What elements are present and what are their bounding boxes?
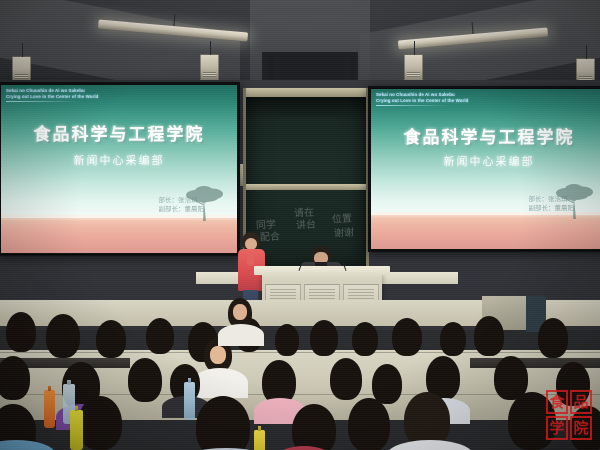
- audience-head: [474, 316, 504, 356]
- audience-head: [392, 318, 422, 356]
- audience-shoulders: [0, 440, 56, 450]
- audience-head: [128, 358, 162, 402]
- ceiling: [0, 0, 600, 88]
- audience-shoulders: [192, 368, 248, 398]
- slide-ground-strip: [371, 215, 600, 249]
- slide-tree-icon: [182, 181, 228, 221]
- presenter-arm: [247, 252, 254, 266]
- watermark-char: 院: [572, 421, 590, 436]
- slide-title: 食品科学与工程学院: [371, 123, 600, 148]
- speaker-rod: [22, 43, 23, 57]
- audience-shoulders: [218, 324, 264, 346]
- audience-head: [330, 358, 362, 400]
- microphone-head-right: [345, 261, 348, 264]
- blackboard-chalk-rail: [246, 184, 366, 190]
- audience-face: [210, 346, 226, 364]
- chalk-note: 谢谢: [334, 227, 355, 239]
- audience-face: [233, 304, 247, 320]
- podium-desktop: [254, 266, 390, 275]
- watermark-seal: 食 品 学 院: [546, 390, 594, 442]
- slide-ground-strip: [1, 218, 237, 253]
- slide-content-left: Sekai no Chuushin de Ai wo Sakebu Crying…: [1, 85, 237, 253]
- audience-head: [275, 324, 299, 356]
- projection-screen-left: Sekai no Chuushin de Ai wo Sakebu Crying…: [0, 82, 240, 256]
- water-bottle-orange: [44, 390, 55, 428]
- audience-head: [78, 396, 122, 450]
- speaker-rod: [210, 41, 211, 55]
- slide-subtitle: 新闻中心采编部: [371, 153, 600, 169]
- watermark-char: 食: [548, 395, 566, 410]
- chalk-note: 位置: [332, 213, 353, 225]
- audience-head: [538, 318, 568, 358]
- blackboard-shadow: [246, 97, 366, 121]
- audience-head: [348, 398, 390, 450]
- chalk-note: 讲台: [296, 219, 317, 231]
- water-bottle-clear: [184, 382, 195, 420]
- microphone-head-left: [299, 261, 302, 264]
- speaker-rod: [414, 41, 415, 55]
- speaker-grill: [15, 74, 28, 79]
- slide-title: 食品科学与工程学院: [1, 120, 237, 145]
- slide-english-rule: [6, 101, 78, 102]
- audience-head: [46, 314, 80, 358]
- water-bottle-yellow: [254, 430, 265, 450]
- watermark-char: 学: [548, 421, 566, 436]
- water-bottle-yellow: [70, 410, 83, 450]
- speaker-grill: [407, 72, 420, 77]
- slide-content-right: Sekai no Chuushin de Ai wo Sakebu Crying…: [371, 89, 600, 249]
- audience-head: [6, 312, 36, 352]
- slide-english-line-2: Crying out Love in the Center of the Wor…: [6, 94, 98, 100]
- slide-english-header: Sekai no Chuushin de Ai wo Sakebu Crying…: [376, 92, 468, 106]
- audience-area: [0, 300, 600, 450]
- ceiling-speaker-3: [404, 54, 423, 80]
- slide-tree-icon: [552, 179, 598, 219]
- audience-shoulders: [386, 440, 474, 450]
- audience-head: [292, 404, 336, 450]
- audience-head: [146, 318, 174, 354]
- ceiling-speaker-2: [200, 54, 219, 80]
- ceiling-speaker-1: [12, 56, 31, 82]
- blackboard-top-rail: [246, 88, 366, 97]
- photograph-canvas: 同学 请在 讲台 位置 谢谢 配合 Sekai no Chuushin de A…: [0, 0, 600, 450]
- audience-head: [372, 364, 402, 404]
- slide-subtitle: 新闻中心采编部: [1, 152, 237, 168]
- audience-head: [0, 356, 30, 400]
- audience-head: [440, 322, 466, 356]
- audience-head: [96, 320, 126, 358]
- chalk-note: 请在: [294, 207, 315, 219]
- projection-screen-right: Sekai no Chuushin de Ai wo Sakebu Crying…: [368, 86, 600, 252]
- audience-head: [310, 320, 338, 356]
- audience-head: [352, 322, 378, 356]
- speaker-rod: [586, 45, 587, 59]
- slide-english-header: Sekai no Chuushin de Ai wo Sakebu Crying…: [6, 88, 98, 102]
- slide-english-rule: [376, 105, 448, 106]
- speaker-grill: [203, 72, 216, 77]
- chalk-note: 同学: [256, 219, 277, 231]
- audience-head: [196, 396, 250, 450]
- slide-english-line-2: Crying out Love in the Center of the Wor…: [376, 98, 468, 104]
- watermark-char: 品: [572, 395, 590, 410]
- front-desk-right: [378, 272, 458, 284]
